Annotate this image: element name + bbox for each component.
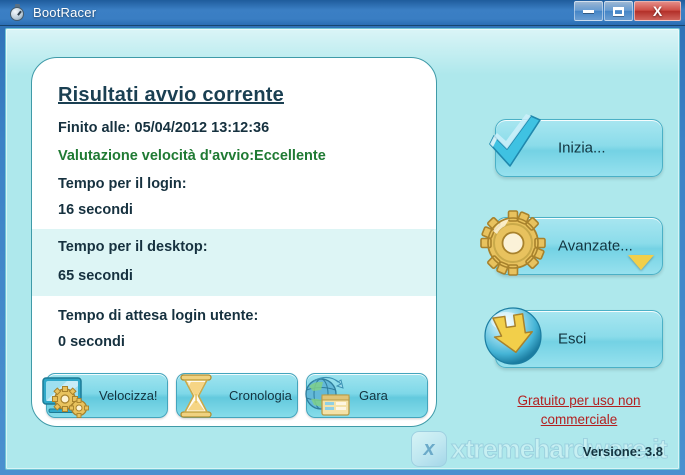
desktop-time-value: 65 secondi [32, 258, 436, 287]
title-bar: BootRacer X [0, 0, 685, 26]
cronologia-button[interactable]: Cronologia [176, 373, 298, 418]
boot-rating-text: Valutazione velocità d'avvio:Eccellente [32, 145, 436, 173]
esci-label: Esci [558, 331, 586, 348]
velocizza-button[interactable]: Velocizza! [46, 373, 168, 418]
globe-document-icon [297, 368, 355, 424]
maximize-button[interactable] [604, 1, 633, 21]
esci-button[interactable]: Esci [495, 310, 663, 368]
wait-time-label: Tempo di attesa login utente: [32, 296, 436, 331]
application-window: BootRacer X Risultati avvio corrente Fin… [0, 0, 685, 475]
results-panel: Risultati avvio corrente Finito alle: 05… [31, 57, 437, 427]
stopwatch-icon [9, 4, 26, 21]
avanzate-button[interactable]: Avanzate... [495, 217, 663, 275]
x-logo-icon: x [411, 431, 447, 467]
free-use-line1: Gratuito per uso non [517, 393, 640, 408]
exit-arrow-icon [474, 297, 552, 375]
close-button[interactable]: X [634, 1, 681, 21]
hourglass-icon [167, 368, 225, 424]
chevron-down-icon[interactable] [628, 255, 654, 270]
login-time-label: Tempo per il login: [32, 173, 436, 199]
minimize-icon [583, 10, 594, 13]
monitor-gears-icon [37, 368, 95, 424]
title-bar-left: BootRacer [0, 4, 96, 21]
minimize-button[interactable] [574, 1, 603, 21]
inizia-button[interactable]: Inizia... [495, 119, 663, 177]
avanzate-label: Avanzate... [558, 238, 633, 255]
window-controls: X [573, 1, 681, 21]
results-content: Risultati avvio corrente Finito alle: 05… [32, 58, 436, 353]
version-text: Versione: 3.8 [583, 444, 663, 459]
finished-time-text: Finito alle: 05/04/2012 13:12:36 [32, 117, 436, 145]
maximize-icon [613, 7, 624, 16]
login-time-value: 16 secondi [32, 199, 436, 229]
inizia-label: Inizia... [558, 140, 606, 157]
app-title: BootRacer [33, 5, 96, 20]
free-use-link[interactable]: Gratuito per uso non commerciale [486, 391, 672, 429]
close-icon: X [653, 4, 662, 18]
panel-button-row: Velocizza! Cronolo [32, 373, 436, 418]
cronologia-label: Cronologia [229, 388, 297, 403]
velocizza-label: Velocizza! [99, 388, 167, 403]
client-area: Risultati avvio corrente Finito alle: 05… [5, 28, 680, 470]
gear-icon [474, 204, 552, 282]
desktop-time-block: Tempo per il desktop: 65 secondi [32, 229, 436, 296]
checkmark-icon [474, 106, 552, 184]
gara-button[interactable]: Gara [306, 373, 428, 418]
wait-time-value: 0 secondi [32, 331, 436, 353]
page-title: Risultati avvio corrente [32, 84, 436, 117]
free-use-line2: commerciale [541, 412, 618, 427]
gara-label: Gara [359, 388, 427, 403]
desktop-time-label: Tempo per il desktop: [32, 236, 436, 258]
